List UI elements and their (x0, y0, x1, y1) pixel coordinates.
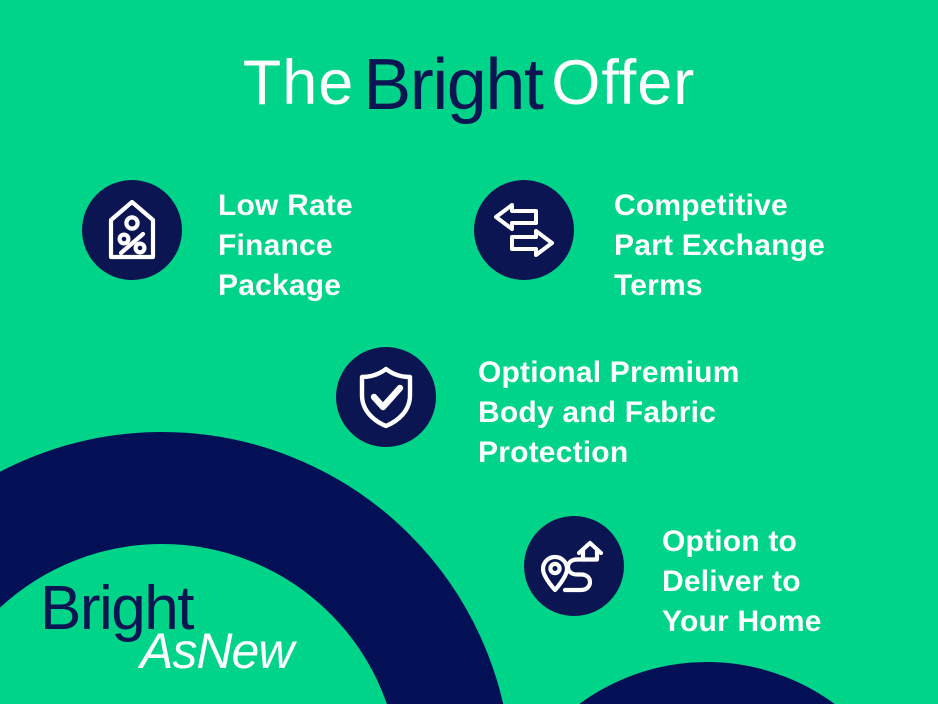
page-title: TheBrightOffer (0, 44, 938, 116)
feature-item-finance: Low Rate Finance Package (82, 180, 353, 306)
two-way-arrows-icon (492, 201, 556, 259)
feature-icon-badge (524, 516, 624, 616)
headline-prefix: The (243, 52, 355, 115)
shield-check-icon (357, 365, 415, 429)
brand-logo-secondary: AsNew (140, 626, 293, 676)
brand-logo: Bright AsNew (40, 578, 300, 688)
feature-label: Optional Premium Body and Fabric Protect… (478, 347, 740, 473)
headline-suffix: Offer (551, 52, 695, 115)
feature-label: Competitive Part Exchange Terms (614, 180, 825, 306)
feature-label: Option to Deliver to Your Home (662, 516, 822, 642)
feature-icon-badge (474, 180, 574, 280)
promotional-poster: TheBrightOffer Low Rate Finance Package (0, 0, 938, 704)
price-tag-percent-icon (105, 199, 159, 261)
feature-item-part-exchange: Competitive Part Exchange Terms (474, 180, 825, 306)
feature-label: Low Rate Finance Package (218, 180, 353, 306)
headline-brand-wordmark: Bright (363, 49, 542, 121)
feature-item-delivery: Option to Deliver to Your Home (524, 516, 822, 642)
decorative-ring-small (492, 662, 922, 704)
feature-icon-badge (82, 180, 182, 280)
feature-icon-badge (336, 347, 436, 447)
feature-item-protection: Optional Premium Body and Fabric Protect… (336, 347, 740, 473)
map-pin-road-house-icon (541, 535, 607, 597)
